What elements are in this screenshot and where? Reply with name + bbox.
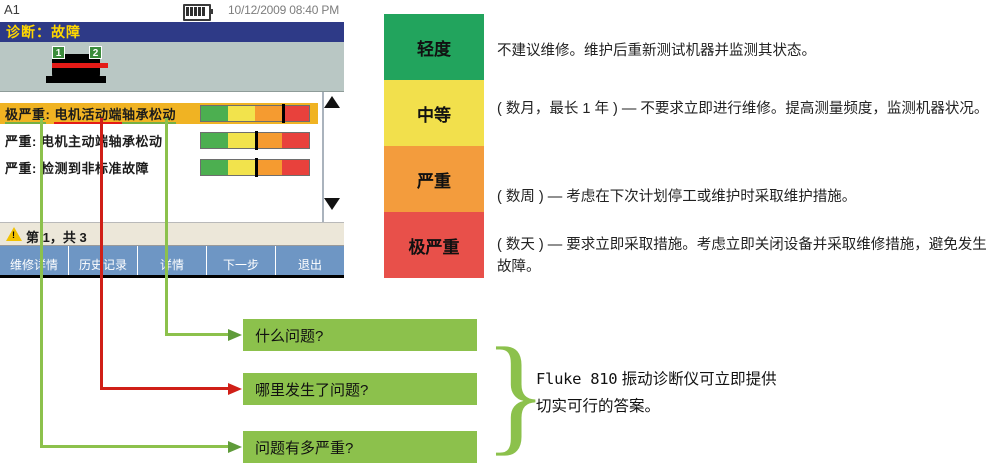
fault-problem-3: 非标准故障 — [81, 161, 149, 176]
softkey-next[interactable]: 下一步 — [207, 246, 276, 275]
leader-line-problem — [165, 118, 168, 336]
softkey-exit[interactable]: 退出 — [276, 246, 344, 275]
device-softkey-bar: 维修详情 历史记录 详情 下一步 退出 — [0, 246, 344, 278]
fault-row-1[interactable]: 极严重: 电机活动端轴承松动 — [0, 103, 318, 124]
legend-level-extreme: 极严重 — [384, 212, 484, 278]
device-timestamp: 10/12/2009 08:40 PM — [228, 3, 339, 17]
fault-row-3[interactable]: 严重: 检测到非标准故障 — [0, 157, 318, 178]
fault-location-2: 电机主动端 — [41, 134, 109, 149]
fault-text-3: 严重: 检测到非标准故障 — [5, 158, 149, 177]
severity-marker-3 — [255, 158, 258, 177]
tagline-line1-rest: 振动诊断仪可立即提供 — [617, 371, 776, 388]
fault-severity-3: 严重 — [5, 161, 32, 176]
scroll-down-arrow-icon[interactable] — [324, 198, 340, 210]
measurement-point-2: 2 — [89, 46, 102, 59]
tagline-line2: 切实可行的答案。 — [536, 398, 660, 415]
callout-how-severe: 问题有多严重? — [243, 431, 477, 463]
severity-marker-2 — [255, 131, 258, 150]
machine-diagram: 1 2 — [0, 42, 344, 92]
severity-bar-3 — [200, 159, 310, 176]
fault-text-2: 严重: 电机主动端轴承松动 — [5, 131, 163, 150]
motor-shaft-shape — [52, 63, 108, 68]
fault-location-1: 电机活动端 — [54, 107, 122, 124]
fault-location-3: 检测到 — [41, 161, 82, 176]
callout-arrow-3-icon — [228, 441, 242, 453]
softkey-repair-details[interactable]: 维修详情 — [0, 246, 69, 275]
legend-desc-moderate: ( 数月，最长 1 年 ) — 不要求立即进行维修。提高测量频度，监测机器状况。 — [497, 98, 989, 120]
severity-bar-1 — [200, 105, 310, 122]
fault-problem-2: 轴承松动 — [108, 134, 162, 149]
page-counter-label: 第 1，共 3 — [26, 227, 87, 246]
legend-level-moderate: 中等 — [384, 80, 484, 146]
legend-level-slight: 轻度 — [384, 14, 484, 80]
fault-severity-2: 严重 — [5, 134, 32, 149]
tagline-text: Fluke 810 振动诊断仪可立即提供 切实可行的答案。 — [536, 366, 956, 420]
severity-bar-2 — [200, 132, 310, 149]
device-status-bar: A1 10/12/2009 08:40 PM — [0, 0, 344, 23]
legend-desc-slight: 不建议维修。维护后重新测试机器并监测其状态。 — [497, 40, 989, 62]
softkey-details[interactable]: 详情 — [138, 246, 207, 275]
leader-line-severity — [40, 118, 43, 448]
fault-row-2[interactable]: 严重: 电机主动端轴承松动 — [0, 130, 318, 151]
leader-line-location — [100, 118, 103, 390]
fluke-device-screen: A1 10/12/2009 08:40 PM 诊断：故障 1 2 极严重: 电机… — [0, 0, 344, 296]
legend-desc-serious: ( 数周 ) — 考虑在下次计划停工或维护时采取维护措施。 — [497, 186, 989, 208]
legend-desc-extreme: ( 数天 ) — 要求立即采取措施。考虑立即关闭设备并采取维修措施，避免发生故障… — [497, 234, 989, 279]
callout-where-problem: 哪里发生了问题? — [243, 373, 477, 405]
callout-arrow-2-icon — [228, 383, 242, 395]
leader-line-severity-horizontal — [40, 445, 230, 448]
warning-triangle-icon — [6, 227, 22, 241]
device-title-bar: 诊断：故障 — [0, 22, 344, 42]
measurement-point-1: 1 — [52, 46, 65, 59]
fault-text-1: 极严重: 电机活动端轴承松动 — [5, 104, 176, 123]
callout-what-problem: 什么问题? — [243, 319, 477, 351]
callout-arrow-1-icon — [228, 329, 242, 341]
device-page-status: 第 1，共 3 — [0, 222, 344, 246]
tagline-brand: Fluke 810 — [536, 370, 617, 388]
scroll-up-arrow-icon[interactable] — [324, 96, 340, 108]
leader-line-location-horizontal — [100, 387, 230, 390]
callout-brace: } — [484, 330, 506, 458]
motor-base-shape — [46, 76, 106, 83]
device-id-label: A1 — [4, 2, 20, 17]
softkey-history[interactable]: 历史记录 — [69, 246, 138, 275]
leader-line-problem-horizontal — [165, 333, 230, 336]
severity-legend: 轻度 中等 严重 极严重 — [384, 14, 484, 278]
battery-icon — [183, 4, 211, 21]
severity-marker-1 — [282, 104, 285, 123]
fault-list[interactable]: 极严重: 电机活动端轴承松动 严重: 电机主动端轴承松动 严重: 检测到非标准故… — [0, 92, 344, 222]
legend-level-serious: 严重 — [384, 146, 484, 212]
